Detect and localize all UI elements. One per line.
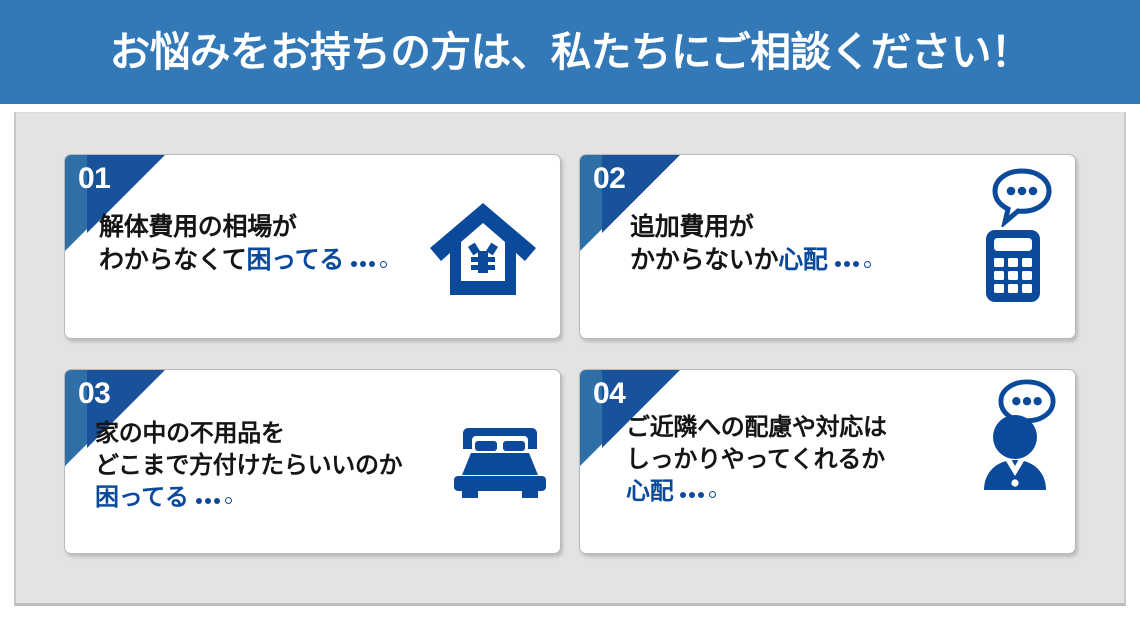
card-grid: 01 解体費用の相場が わからなくて困ってる — [64, 154, 1076, 554]
card-body-text: ご近隣への配慮や対応は しっかりやってくれるか 心配 — [626, 412, 887, 508]
calculator-icon — [985, 229, 1041, 308]
concern-card-04[interactable]: 04 ご近隣への配慮や対応は しっかりやってくれるか 心配 — [579, 369, 1076, 554]
header-banner: お悩みをお持ちの方は、私たちにご相談ください！ — [0, 0, 1140, 104]
card-number-badge: 03 — [78, 379, 110, 409]
house-yen-icon — [428, 197, 538, 306]
page-title: お悩みをお持ちの方は、私たちにご相談ください！ — [109, 32, 1030, 73]
card-line: 困ってる — [95, 482, 402, 514]
card-body-text: 追加費用が かからないか心配 — [630, 211, 871, 278]
card-body-text: 家の中の不用品を どこまで方付けたらいいのか 困ってる — [95, 418, 402, 514]
card-line: ご近隣への配慮や対応は — [626, 412, 887, 444]
ellipsis-mark — [196, 497, 232, 504]
poster-root: お悩みをお持ちの方は、私たちにご相談ください！ 01 解体費用の相場が わからな… — [0, 0, 1140, 622]
card-line: 心配 — [626, 476, 887, 508]
card-line: かからないか心配 — [630, 244, 871, 277]
concern-card-01[interactable]: 01 解体費用の相場が わからなくて困ってる — [64, 154, 561, 339]
concern-card-03[interactable]: 03 家の中の不用品を どこまで方付けたらいいのか 困ってる — [64, 369, 561, 554]
card-number-badge: 01 — [78, 164, 110, 194]
card-line: 追加費用が — [630, 211, 871, 244]
ellipsis-mark — [835, 261, 871, 268]
ellipsis-mark — [351, 261, 387, 268]
card-line: しっかりやってくれるか — [626, 444, 887, 476]
card-number-badge: 04 — [593, 379, 625, 409]
card-line: 解体費用の相場が — [99, 211, 387, 244]
card-line: どこまで方付けたらいいのか — [95, 450, 402, 482]
ellipsis-mark — [680, 491, 716, 498]
bed-icon — [454, 426, 546, 503]
card-line: 家の中の不用品を — [95, 418, 402, 450]
speech-bubble-icon — [991, 167, 1053, 232]
card-line: わからなくて困ってる — [99, 244, 387, 277]
card-body-text: 解体費用の相場が わからなくて困ってる — [99, 211, 387, 278]
person-icon — [981, 414, 1049, 497]
concern-card-02[interactable]: 02 追加費用が かからないか心配 — [579, 154, 1076, 339]
card-number-badge: 02 — [593, 164, 625, 194]
